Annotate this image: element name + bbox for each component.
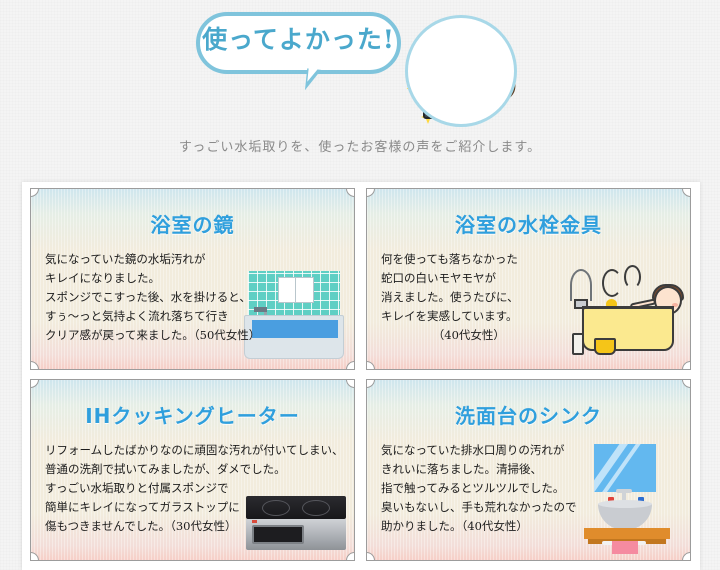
card-title: 洗面台のシンク <box>367 380 690 429</box>
card-corner-notch <box>682 552 691 561</box>
page-header: 使ってよかった! <box>0 0 720 170</box>
card-body-text: 気になっていた排水口周りの汚れが きれいに落ちました。清掃後、 指で触ってみると… <box>381 441 626 536</box>
card-title: 浴室の水栓金具 <box>367 189 690 238</box>
card-corner-notch <box>366 552 375 561</box>
card-corner-notch <box>682 361 691 370</box>
testimonial-card[interactable]: 洗面台のシンク 気になっていた排水口周りの汚れが きれいに落ちました。清掃後、 … <box>366 379 691 561</box>
testimonial-card[interactable]: 浴室の鏡 気になっていた鏡の水垢汚れが キレイになりました。 スポンジでこすった… <box>30 188 355 370</box>
testimonial-card[interactable]: IHクッキングヒーター リフォームしたばかりなのに頑固な汚れが付いてしまい、 普… <box>30 379 355 561</box>
character-circle-frame <box>405 15 517 127</box>
towel-icon <box>612 541 638 554</box>
card-body-text: 何を使っても落ちなかった 蛇口の白いモヤモヤが 消えました。使うたびに、 キレイ… <box>381 250 599 345</box>
card-body-text: リフォームしたばかりなのに頑固な汚れが付いてしまい、 普通の洗剤で拭いてみました… <box>45 441 345 536</box>
speech-bubble: 使ってよかった! <box>196 12 411 102</box>
card-title: 浴室の鏡 <box>31 189 354 238</box>
card-corner-notch <box>346 361 355 370</box>
card-body-text: 気になっていた鏡の水垢汚れが キレイになりました。 スポンジでこすった後、水を掛… <box>45 250 290 345</box>
testimonials-panel: 浴室の鏡 気になっていた鏡の水垢汚れが キレイになりました。 スポンジでこすった… <box>22 182 700 570</box>
testimonial-card[interactable]: 浴室の水栓金具 何を使っても落ちなかった 蛇口の白いモヤモヤが 消えました。使う… <box>366 188 691 370</box>
steam-shape <box>624 265 641 289</box>
card-corner-notch <box>30 552 39 561</box>
steam-shape <box>602 269 622 297</box>
card-corner-notch <box>366 361 375 370</box>
card-title: IHクッキングヒーター <box>31 380 354 429</box>
card-corner-notch <box>346 552 355 561</box>
cleaning-lady-icon <box>398 10 524 136</box>
page-subtitle: すっごい水垢取りを、使ったお客様の声をご紹介します。 <box>0 136 720 155</box>
speech-bubble-text: 使ってよかった! <box>196 12 401 74</box>
card-corner-notch <box>30 361 39 370</box>
testimonials-grid: 浴室の鏡 気になっていた鏡の水垢汚れが キレイになりました。 スポンジでこすった… <box>30 188 692 561</box>
